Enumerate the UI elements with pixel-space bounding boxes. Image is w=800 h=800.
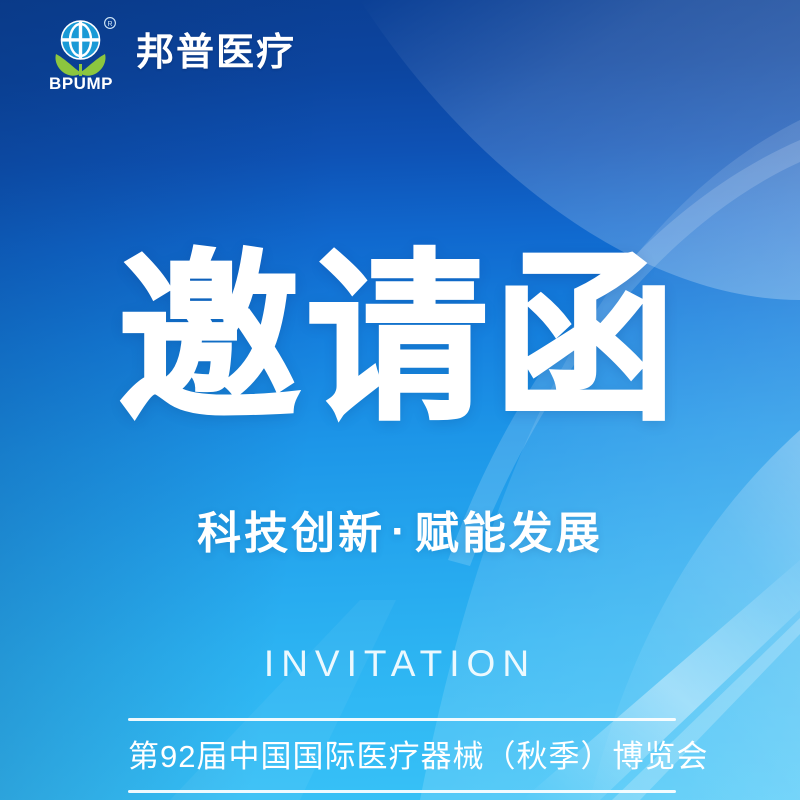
svg-text:R: R <box>107 21 112 28</box>
divider-top <box>128 718 676 721</box>
bpump-logo-icon: R BPUMP <box>44 14 118 92</box>
invitation-poster: R BPUMP 邦普医疗 邀请函 科技创新·赋能发展 INVITATION 第9… <box>0 0 800 800</box>
subtitle-right: 赋能发展 <box>415 509 603 558</box>
subtitle-left: 科技创新 <box>197 509 385 558</box>
divider-bottom <box>128 790 676 793</box>
subtitle-separator: · <box>385 506 415 559</box>
event-name: 第92届中国国际医疗器械（秋季）博览会 <box>128 721 676 790</box>
company-name: 邦普医疗 <box>136 34 296 72</box>
subtitle: 科技创新·赋能发展 <box>0 508 800 561</box>
bpump-wordmark: BPUMP <box>49 74 113 92</box>
registered-mark-icon: R <box>105 18 116 29</box>
page-title: 邀请函 <box>0 248 800 430</box>
invitation-english-label: INVITATION <box>0 645 800 682</box>
brand-header: R BPUMP 邦普医疗 <box>0 0 296 92</box>
event-footer: 第92届中国国际医疗器械（秋季）博览会 <box>128 718 676 793</box>
